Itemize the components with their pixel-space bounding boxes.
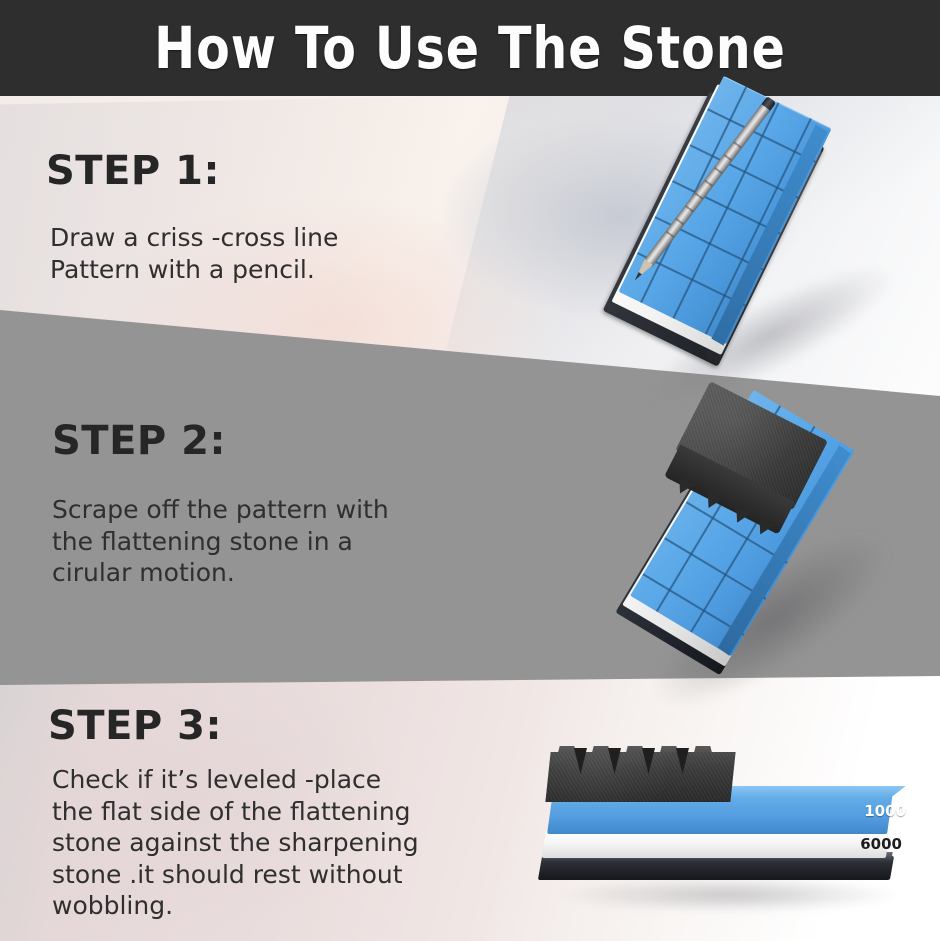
step-3-body: Check if it’s leveled -place the flat si… — [52, 764, 419, 922]
step-2-body: Scrape off the pattern with the flatteni… — [52, 494, 389, 589]
sharpening-stone-assembly — [559, 341, 940, 744]
step-3-title: STEP 3: — [48, 703, 222, 749]
stone-white-layer — [542, 830, 890, 858]
header-bar: How To Use The Stone — [0, 0, 940, 96]
grit-label-6000: 6000 — [860, 835, 902, 853]
step-1-illustration — [600, 96, 940, 396]
step-1-title: STEP 1: — [46, 148, 220, 194]
infographic-poster: How To Use The Stone STEP 1: Draw a cris… — [0, 0, 940, 941]
step-2-illustration — [592, 392, 940, 692]
step-1-body: Draw a criss -cross line Pattern with a … — [50, 222, 338, 285]
grit-label-1000: 1000 — [864, 802, 906, 820]
drop-shadow — [560, 878, 900, 912]
step-3-illustration: 1000 6000 — [520, 730, 940, 920]
stone-grain-texture — [545, 752, 735, 802]
step-2-title: STEP 2: — [52, 418, 226, 464]
flattening-stone-body — [545, 752, 735, 802]
page-title: How To Use The Stone — [154, 14, 786, 82]
flattening-stone — [548, 738, 733, 802]
